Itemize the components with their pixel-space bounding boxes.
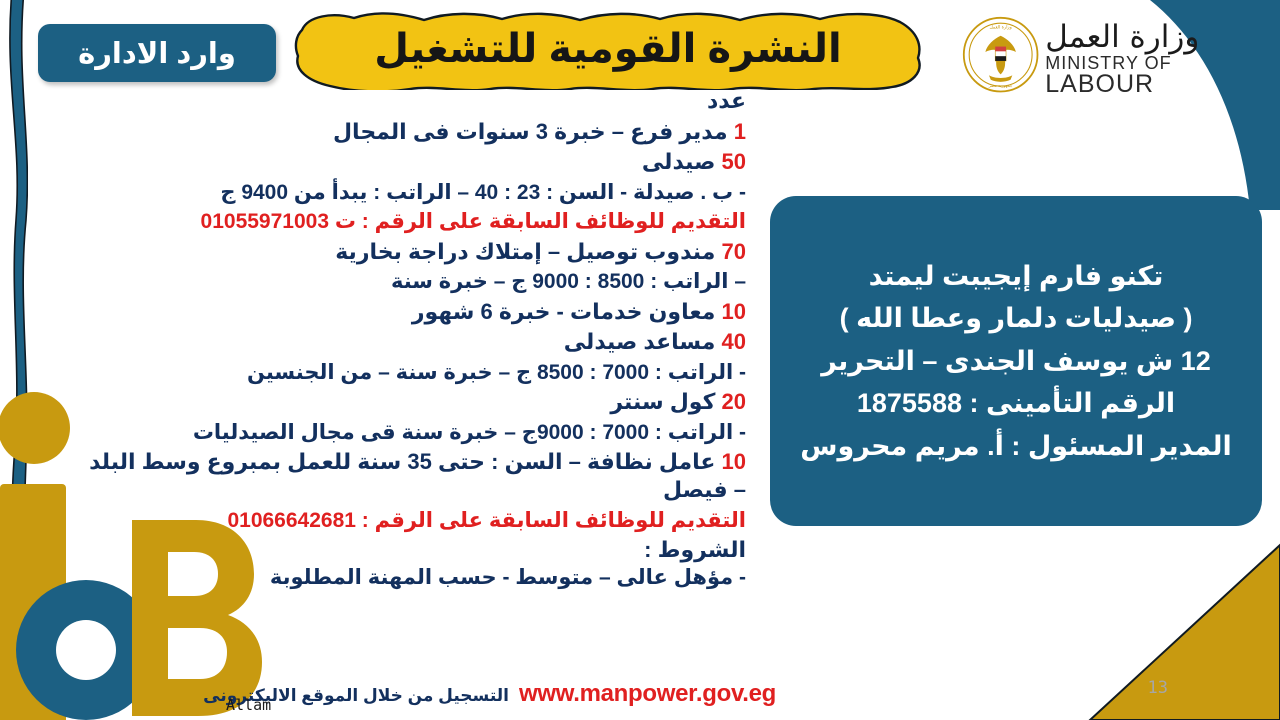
- job-application-phone-row: التقديم للوظائف السابقة على الرقم : ت 01…: [86, 207, 746, 236]
- job-application-phone-row: التقديم للوظائف السابقة على الرقم : 0106…: [86, 506, 746, 535]
- egypt-eagle-emblem-icon: وزارة العمل جمهورية مصر: [962, 16, 1039, 102]
- conditions-title: الشروط :: [86, 537, 746, 563]
- bulletin-title-banner: النشرة القومية للتشغيل: [288, 12, 928, 90]
- company-name: تكنو فارم إيجيبت ليمتد: [869, 258, 1164, 294]
- ministry-logo-english-suffix: LABOUR: [1045, 70, 1154, 98]
- admin-source-badge-label: وارد الادارة: [78, 36, 236, 71]
- company-insurance-number: الرقم التأمينى : 1875588: [857, 385, 1175, 421]
- manpower-website-link[interactable]: www.manpower.gov.eg: [519, 680, 776, 708]
- company-manager: المدير المسئول : أ. مريم محروس: [800, 428, 1231, 464]
- job-entry-row: 50 صيدلى: [86, 147, 746, 178]
- job-entry-row: 10 عامل نظافة – السن : حتى 35 سنة للعمل …: [86, 447, 746, 506]
- footer-registration: www.manpower.gov.eg التسجيل من خلال المو…: [203, 680, 776, 708]
- svg-text:جمهورية مصر: جمهورية مصر: [988, 83, 1013, 88]
- svg-text:وزارة العمل: وزارة العمل: [989, 26, 1011, 31]
- job-entry-row: 10 معاون خدمات - خبرة 6 شهور: [86, 297, 746, 328]
- bulletin-title-text: النشرة القومية للتشغيل: [288, 12, 928, 90]
- job-title: معاون خدمات - خبرة 6 شهور: [412, 299, 716, 324]
- job-entry-row: 20 كول سنتر: [86, 387, 746, 418]
- ministry-logo-arabic-label: وزارة العمل: [1045, 22, 1199, 53]
- job-quantity: 10: [722, 449, 746, 474]
- job-detail-row: - ب . صيدلة - السن : 23 : 40 – الراتب : …: [86, 178, 746, 207]
- job-quantity: 1: [734, 119, 746, 144]
- ministry-logo-english-label: MINISTRY OF LABOUR: [1045, 54, 1262, 97]
- job-detail-row: - الراتب : 7000 : 9000ج – خبرة سنة قى مج…: [86, 418, 746, 447]
- admin-source-badge: وارد الادارة: [38, 24, 276, 82]
- job-title: كول سنتر: [610, 389, 715, 414]
- job-title: عامل نظافة – السن : حتى 35 سنة للعمل بمب…: [89, 449, 746, 503]
- conditions-item: - مؤهل عالى – متوسط - حسب المهنة المطلوب…: [86, 565, 746, 590]
- ministry-logo: وزارة العمل MINISTRY OF LABOUR وزارة الع…: [962, 14, 1262, 104]
- jobs-count-header: عدد: [86, 88, 746, 115]
- job-quantity: 40: [722, 329, 746, 354]
- job-detail-row: - الراتب : 7000 : 8500 ج – خبرة سنة – من…: [86, 358, 746, 387]
- job-entry-row: 40 مساعد صيدلى: [86, 327, 746, 358]
- job-title: مدير فرع – خبرة 3 سنوات فى المجال: [333, 119, 728, 144]
- slide-page-number: 13: [1148, 678, 1168, 698]
- job-entry-row: 70 مندوب توصيل – إمتلاك دراجة بخارية: [86, 237, 746, 268]
- company-subtitle: ( صيدليات دلمار وعطا الله ): [840, 300, 1193, 336]
- author-watermark: Allam: [226, 696, 271, 714]
- company-info-card: تكنو فارم إيجيبت ليمتد ( صيدليات دلمار و…: [770, 196, 1262, 526]
- job-detail-row: – الراتب : 8500 : 9000 ج – خبرة سنة: [86, 267, 746, 296]
- job-entry-row: 1 مدير فرع – خبرة 3 سنوات فى المجال: [86, 117, 746, 148]
- jobs-listing: عدد 1 مدير فرع – خبرة 3 سنوات فى المجال …: [86, 88, 746, 590]
- company-address: 12 ش يوسف الجندى – التحرير: [821, 343, 1210, 379]
- job-quantity: 70: [722, 239, 746, 264]
- job-quantity: 20: [722, 389, 746, 414]
- job-quantity: 50: [722, 149, 746, 174]
- left-wavy-stripe-decoration: [2, 0, 28, 630]
- job-title: مساعد صيدلى: [564, 329, 716, 354]
- bottom-right-triangle-decoration: [1070, 535, 1280, 720]
- job-title: صيدلى: [642, 149, 715, 174]
- job-quantity: 10: [722, 299, 746, 324]
- ministry-logo-text: وزارة العمل MINISTRY OF LABOUR: [1045, 22, 1262, 97]
- job-title: مندوب توصيل – إمتلاك دراجة بخارية: [335, 239, 715, 264]
- slide-canvas: وارد الادارة النشرة القومية للتشغيل وزار…: [0, 0, 1280, 720]
